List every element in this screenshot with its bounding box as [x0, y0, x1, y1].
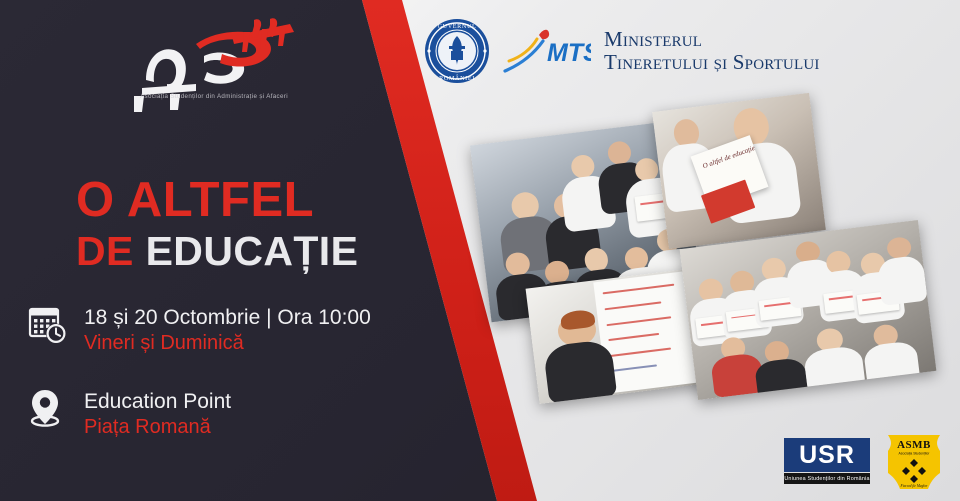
ministry-name: Ministerul Tineretului și Sportului: [604, 28, 820, 74]
ministry-name-line1: Ministerul: [604, 28, 820, 51]
guvernul-romaniei-seal-icon: GUVERNUL ROMÂNIEI: [424, 18, 490, 84]
event-date-block: 18 și 20 Octombrie | Ora 10:00 Vineri și…: [28, 304, 371, 355]
svg-text:MTS: MTS: [547, 39, 591, 67]
svg-text:Asociația Studenților: Asociația Studenților: [899, 452, 931, 456]
ministry-logo-row: GUVERNUL ROMÂNIEI MTS Ministerul Tineret…: [424, 14, 820, 88]
usr-logo: USR Uniunea Studenților din România: [784, 438, 870, 484]
ministry-name-line2: Tineretului și Sportului: [604, 51, 820, 74]
headline-de: DE: [76, 228, 134, 274]
usr-logo-bar: USR: [784, 438, 870, 472]
headline-line1: O ALTFEL: [76, 176, 358, 224]
event-area-text: Piața Romană: [84, 415, 231, 439]
photo-student-with-sign: O altfel de educație: [652, 93, 826, 249]
headline-educatie: EDUCAȚIE: [146, 228, 359, 274]
photo-collage: O altfel de educație: [470, 96, 940, 406]
photo-certificates-group: [680, 220, 937, 400]
event-date-lines: 18 și 20 Octombrie | Ora 10:00 Vineri și…: [84, 304, 371, 355]
calendar-clock-icon: [28, 304, 68, 346]
event-days-text: Vineri și Duminică: [84, 331, 371, 355]
page-title: O ALTFEL DE EDUCAȚIE: [76, 176, 358, 273]
usr-abbr: USR: [799, 443, 855, 468]
usr-subtitle: Uniunea Studenților din România: [784, 473, 870, 484]
event-banner: Asociația Studenților din Administrație …: [0, 0, 960, 501]
sponsor-logos: USR Uniunea Studenților din România ASMB…: [784, 431, 944, 491]
mts-logo-icon: MTS: [503, 25, 591, 77]
map-pin-icon: [28, 388, 68, 430]
event-location-block: Education Point Piața Romană: [28, 388, 231, 439]
svg-text:ROMÂNIEI: ROMÂNIEI: [439, 74, 475, 82]
asmb-motto: Fiecool fie Meglor: [900, 484, 929, 488]
asmb-logo: ASMB Asociația Studenților Fiecool fie M…: [884, 431, 944, 491]
photo-flipchart: [526, 268, 709, 404]
event-date-text: 18 și 20 Octombrie | Ora 10:00: [84, 305, 371, 331]
event-venue-text: Education Point: [84, 389, 231, 415]
svg-text:ASMB: ASMB: [897, 439, 931, 451]
event-location-lines: Education Point Piața Romană: [84, 388, 231, 439]
headline-line2: DE EDUCAȚIE: [76, 230, 358, 273]
asaa-tagline: Asociația Studenților din Administrație …: [106, 93, 322, 100]
svg-text:GUVERNUL: GUVERNUL: [438, 23, 477, 30]
